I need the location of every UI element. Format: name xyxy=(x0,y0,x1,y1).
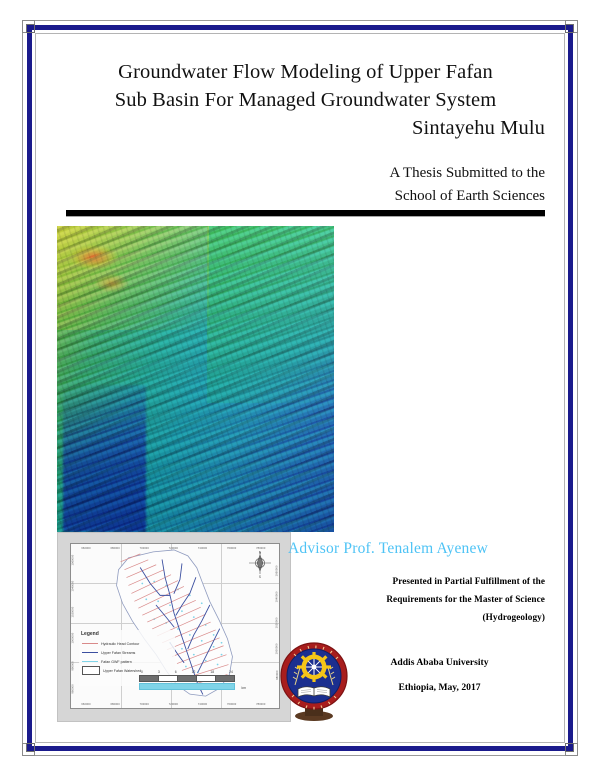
presented-line-3: (Hydrogeology) xyxy=(300,608,545,626)
border-corner-inner-top-right xyxy=(565,24,574,33)
groundwater-flow-map-panel: 660000 680000 700000 720000 740000 76000… xyxy=(57,532,291,722)
presented-line-2: Requirements for the Master of Science xyxy=(300,590,545,608)
title-line-2: Sub Basin For Managed Groundwater System xyxy=(66,86,545,114)
author-name: Sintayehu Mulu xyxy=(66,114,545,142)
map-plot-frame: 660000 680000 700000 720000 740000 76000… xyxy=(70,543,280,709)
border-corner-inner-bottom-left xyxy=(26,743,35,752)
legend-item-streams: Upper Fafan Streams xyxy=(79,648,175,657)
legend-swatch-watershed xyxy=(82,666,100,675)
map-y-tick-4: 980000 xyxy=(72,661,75,670)
legend-swatch-contour xyxy=(82,643,98,644)
horizontal-rule xyxy=(66,210,545,216)
map-x-tick-bottom-4: 740000 xyxy=(198,703,207,706)
advisor-line: Advisor Prof. Tenalem Ayenew xyxy=(288,540,545,558)
legend-label-watershed: Upper Fafan Watershed xyxy=(103,669,141,673)
map-x-tick-3: 720000 xyxy=(169,547,178,550)
university-block: Addis Ababa University Ethiopia, May, 20… xyxy=(300,650,545,700)
place-and-date: Ethiopia, May, 2017 xyxy=(300,675,545,700)
map-y-tick-2: 1020000 xyxy=(72,607,75,618)
map-y-tick-3: 1000000 xyxy=(72,633,75,644)
map-x-tick-2: 700000 xyxy=(140,547,149,550)
map-x-tick-bottom-2: 700000 xyxy=(140,703,149,706)
map-x-tick-1: 680000 xyxy=(111,547,120,550)
scale-tick-1: 3 xyxy=(158,670,160,674)
scale-tick-2: 6 xyxy=(175,670,177,674)
map-x-tick-bottom-3: 720000 xyxy=(169,703,178,706)
upper-fafan-dem-figure xyxy=(57,226,334,532)
map-x-tick-4: 740000 xyxy=(198,547,207,550)
map-y-tick-5: 960000 xyxy=(72,684,75,693)
border-corner-inner-bottom-right xyxy=(565,743,574,752)
presented-statement: Presented in Partial Fulfillment of the … xyxy=(300,572,545,626)
map-x-tick-bottom-0: 660000 xyxy=(81,703,90,706)
scale-tick-0: 0 xyxy=(141,670,143,674)
legend-title: Legend xyxy=(81,631,175,637)
map-y-tick-right-2: 1020000 xyxy=(276,618,279,629)
scale-tick-5: 24 xyxy=(229,670,233,674)
north-label: N xyxy=(259,550,262,554)
map-x-tick-0: 660000 xyxy=(81,547,90,550)
border-corner-inner-top-left xyxy=(26,24,35,33)
legend-swatch-streams xyxy=(82,652,98,653)
map-x-tick-bottom-1: 680000 xyxy=(111,703,120,706)
map-y-tick-0: 1060000 xyxy=(72,554,75,565)
map-x-tick-bottom-5: 760000 xyxy=(227,703,236,706)
legend-swatch-gwf xyxy=(82,661,98,662)
north-arrow-icon: N S xyxy=(247,550,273,580)
presented-line-1: Presented in Partial Fulfillment of the xyxy=(300,572,545,590)
subtitle-line-1: A Thesis Submitted to the xyxy=(66,162,545,185)
scale-bar-unit: km xyxy=(241,686,246,690)
thesis-subtitle: A Thesis Submitted to the School of Eart… xyxy=(66,162,545,208)
scale-tick-3: 12 xyxy=(192,670,196,674)
map-y-tick-1: 1040000 xyxy=(72,581,75,592)
scale-tick-4: 18 xyxy=(210,670,214,674)
thesis-title: Groundwater Flow Modeling of Upper Fafan… xyxy=(66,58,545,142)
legend-label-gwf: Fafan GWF pattern xyxy=(101,660,132,664)
legend-label-contour: Hydraulic Head Contour xyxy=(101,642,139,646)
legend-item-hydraulic-head-contour: Hydraulic Head Contour xyxy=(79,639,175,648)
scale-bar-segments xyxy=(139,675,235,682)
legend-label-streams: Upper Fafan Streams xyxy=(101,651,135,655)
map-scale-bar: 0 3 6 12 18 24 km xyxy=(139,670,235,690)
map-x-tick-bottom-6: 780000 xyxy=(256,703,265,706)
subtitle-line-2: School of Earth Sciences xyxy=(66,185,545,208)
legend-item-gwf-pattern: Fafan GWF pattern xyxy=(79,657,175,666)
scale-bar-highlight xyxy=(139,683,235,690)
map-x-tick-5: 760000 xyxy=(227,547,236,550)
dem-hillshade-tone xyxy=(57,226,334,532)
university-name: Addis Ababa University xyxy=(300,650,545,675)
title-line-1: Groundwater Flow Modeling of Upper Fafan xyxy=(66,58,545,86)
thesis-cover-page: Groundwater Flow Modeling of Upper Fafan… xyxy=(0,0,600,776)
south-label: S xyxy=(259,575,261,579)
map-y-tick-right-1: 1040000 xyxy=(276,591,279,602)
map-y-tick-right-0: 1060000 xyxy=(276,565,279,576)
